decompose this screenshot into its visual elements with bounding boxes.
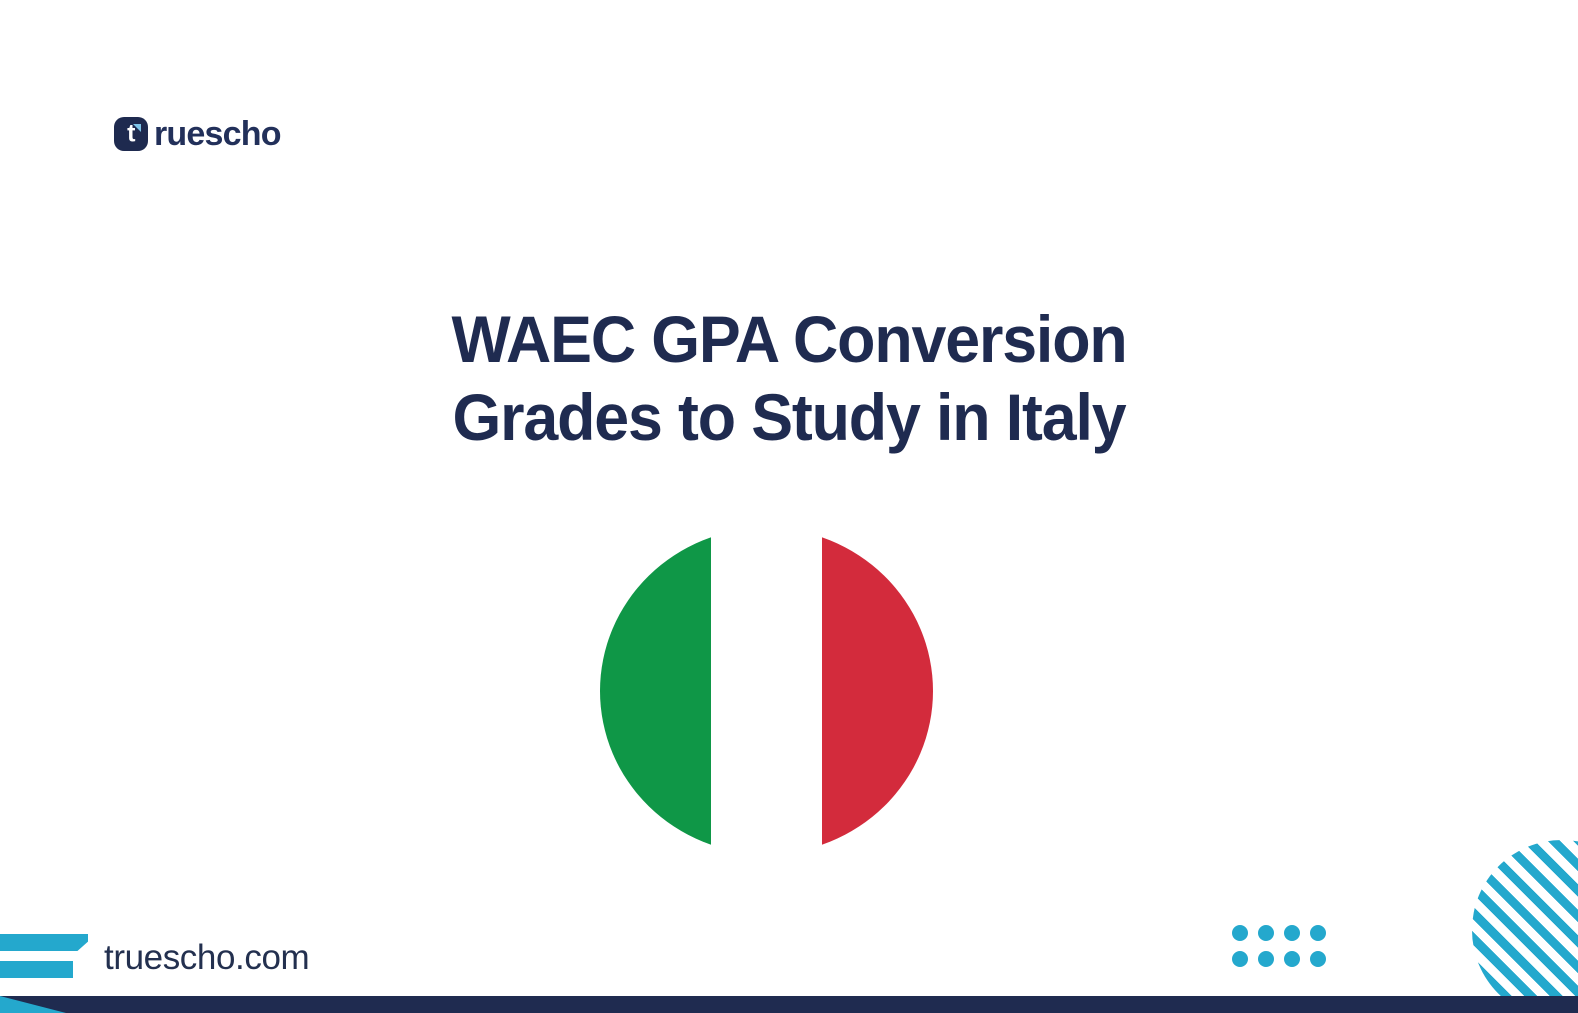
striped-circle-decoration	[1472, 840, 1578, 1013]
dot-grid-decoration	[1232, 925, 1326, 967]
dot	[1258, 951, 1274, 967]
slide-canvas: t ruescho WAEC GPA Conversion Grades to …	[0, 0, 1578, 1013]
footer-bar-top	[0, 934, 88, 951]
bottom-bar	[0, 996, 1578, 1013]
dot	[1284, 925, 1300, 941]
dot	[1232, 951, 1248, 967]
page-title-line-2: Grades to Study in Italy	[39, 378, 1538, 456]
flag-band-red	[822, 528, 933, 854]
page-title-line-1: WAEC GPA Conversion	[39, 300, 1538, 378]
dot	[1258, 925, 1274, 941]
footer-bar-bottom	[0, 961, 73, 978]
flag-band-white	[711, 528, 822, 854]
dot	[1310, 951, 1326, 967]
page-title: WAEC GPA Conversion Grades to Study in I…	[0, 300, 1578, 456]
footer-url[interactable]: truescho.com	[104, 934, 309, 981]
dot	[1232, 925, 1248, 941]
flag-band-green	[600, 528, 711, 854]
footer-logo-icon	[0, 934, 92, 981]
italy-flag-icon	[600, 528, 933, 854]
brand-mark-letter: t	[114, 122, 148, 147]
bottom-bar-accent-shape	[0, 996, 66, 1013]
dot	[1284, 951, 1300, 967]
brand-wordmark: ruescho	[154, 117, 281, 151]
brand-mark-icon: t	[114, 117, 148, 151]
brand-logo[interactable]: t ruescho	[114, 117, 281, 151]
dot	[1310, 925, 1326, 941]
